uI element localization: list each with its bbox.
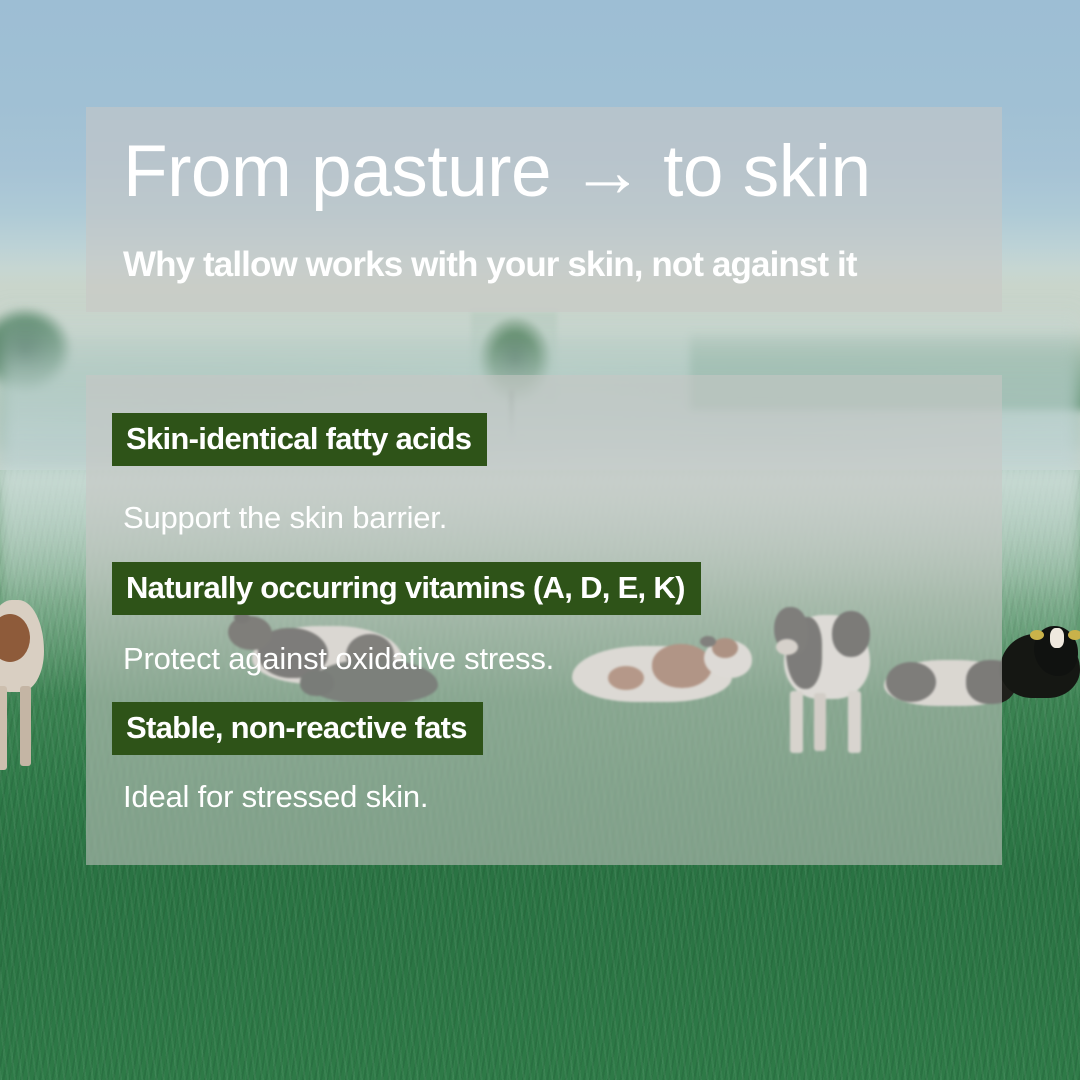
benefit-3-badge: Stable, non-reactive fats [112, 702, 483, 755]
cow-far-right-black [1000, 620, 1080, 712]
benefit-1-description: Support the skin barrier. [123, 500, 447, 536]
promo-graphic: From pasture → to skin Why tallow works … [0, 0, 1080, 1080]
cow-far-left [0, 600, 56, 780]
benefit-3-description: Ideal for stressed skin. [123, 779, 428, 815]
benefit-3: Stable, non-reactive fats [112, 702, 483, 755]
benefit-2: Naturally occurring vitamins (A, D, E, K… [112, 562, 701, 615]
benefit-1-badge: Skin-identical fatty acids [112, 413, 487, 466]
cow-blaze [1050, 628, 1064, 648]
cow-leg [20, 686, 31, 766]
page-subtitle: Why tallow works with your skin, not aga… [123, 245, 857, 285]
cow-ear [1030, 630, 1044, 640]
benefit-2-description: Protect against oxidative stress. [123, 641, 554, 677]
page-title: From pasture → to skin [123, 134, 871, 211]
benefit-2-badge: Naturally occurring vitamins (A, D, E, K… [112, 562, 701, 615]
cow-ear [1068, 630, 1080, 640]
cow-leg [0, 686, 7, 770]
benefit-1: Skin-identical fatty acids [112, 413, 487, 466]
